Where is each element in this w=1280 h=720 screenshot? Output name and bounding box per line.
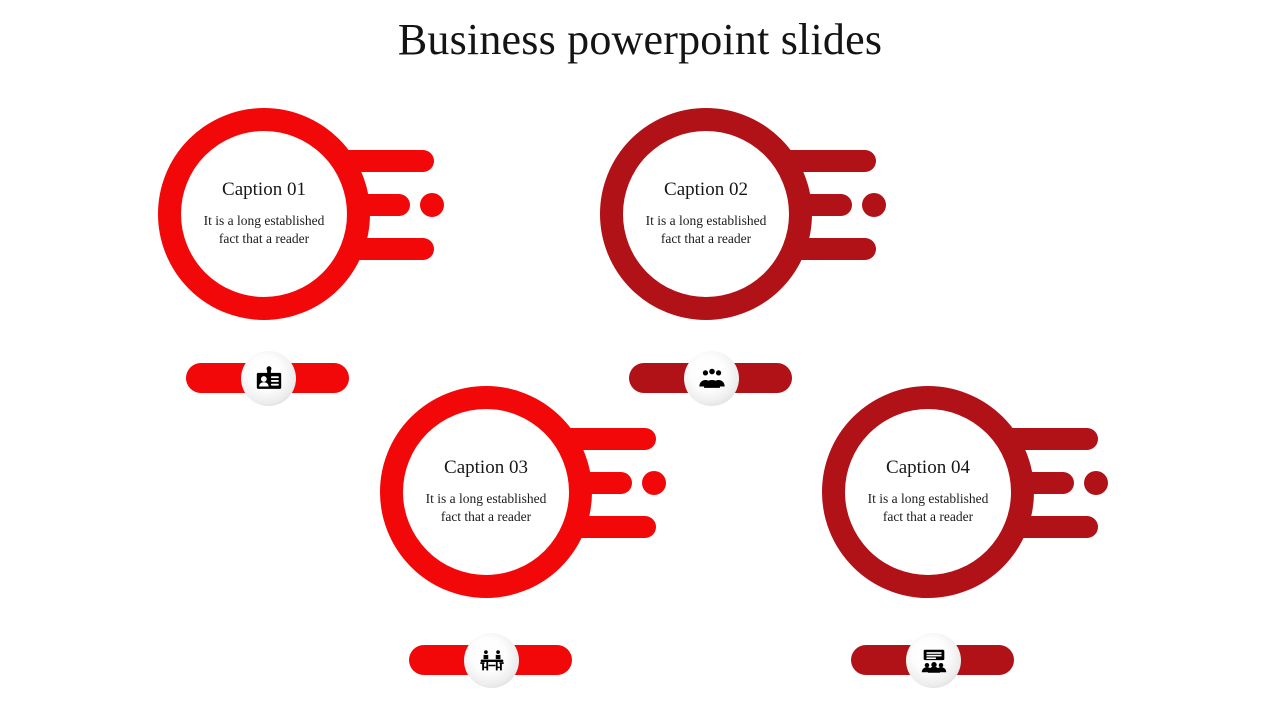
node-03-icon-group[interactable] — [409, 645, 572, 675]
tail-dot — [420, 193, 444, 217]
people-group-icon[interactable] — [684, 351, 739, 406]
node-02-description-line1: It is a long established — [646, 213, 767, 228]
node-04-icon-group[interactable] — [851, 645, 1014, 675]
node-04-caption: Caption 04 — [886, 457, 970, 479]
node-01-description-line1: It is a long established — [204, 213, 325, 228]
node-03-description: It is a long established fact that a rea… — [426, 490, 547, 526]
node-04-text: Caption 04 It is a long established fact… — [822, 386, 1034, 598]
slide-canvas: Business powerpoint slides Caption 01 It… — [0, 0, 1280, 720]
diagram-node-02[interactable]: Caption 02 It is a long established fact… — [600, 108, 900, 320]
node-04-description-line1: It is a long established — [868, 491, 989, 506]
tail-dot — [642, 471, 666, 495]
node-02-description-line2: fact that a reader — [661, 231, 751, 246]
tail-dot — [1084, 471, 1108, 495]
node-04-description: It is a long established fact that a rea… — [868, 490, 989, 526]
diagram-node-03[interactable]: Caption 03 It is a long established fact… — [380, 386, 680, 598]
presentation-audience-icon[interactable] — [906, 633, 961, 688]
node-01-caption: Caption 01 — [222, 179, 306, 201]
node-02-caption: Caption 02 — [664, 179, 748, 201]
node-02-text: Caption 02 It is a long established fact… — [600, 108, 812, 320]
node-03-text: Caption 03 It is a long established fact… — [380, 386, 592, 598]
node-01-icon-group[interactable] — [186, 363, 349, 393]
diagram-node-01[interactable]: Caption 01 It is a long established fact… — [158, 108, 458, 320]
meeting-table-icon[interactable] — [464, 633, 519, 688]
page-title: Business powerpoint slides — [0, 16, 1280, 64]
node-03-caption: Caption 03 — [444, 457, 528, 479]
node-04-description-line2: fact that a reader — [883, 509, 973, 524]
id-badge-icon[interactable] — [241, 351, 296, 406]
node-01-text: Caption 01 It is a long established fact… — [158, 108, 370, 320]
node-03-description-line1: It is a long established — [426, 491, 547, 506]
node-02-description: It is a long established fact that a rea… — [646, 212, 767, 248]
diagram-node-04[interactable]: Caption 04 It is a long established fact… — [822, 386, 1122, 598]
node-01-description: It is a long established fact that a rea… — [204, 212, 325, 248]
node-03-description-line2: fact that a reader — [441, 509, 531, 524]
tail-dot — [862, 193, 886, 217]
node-01-description-line2: fact that a reader — [219, 231, 309, 246]
